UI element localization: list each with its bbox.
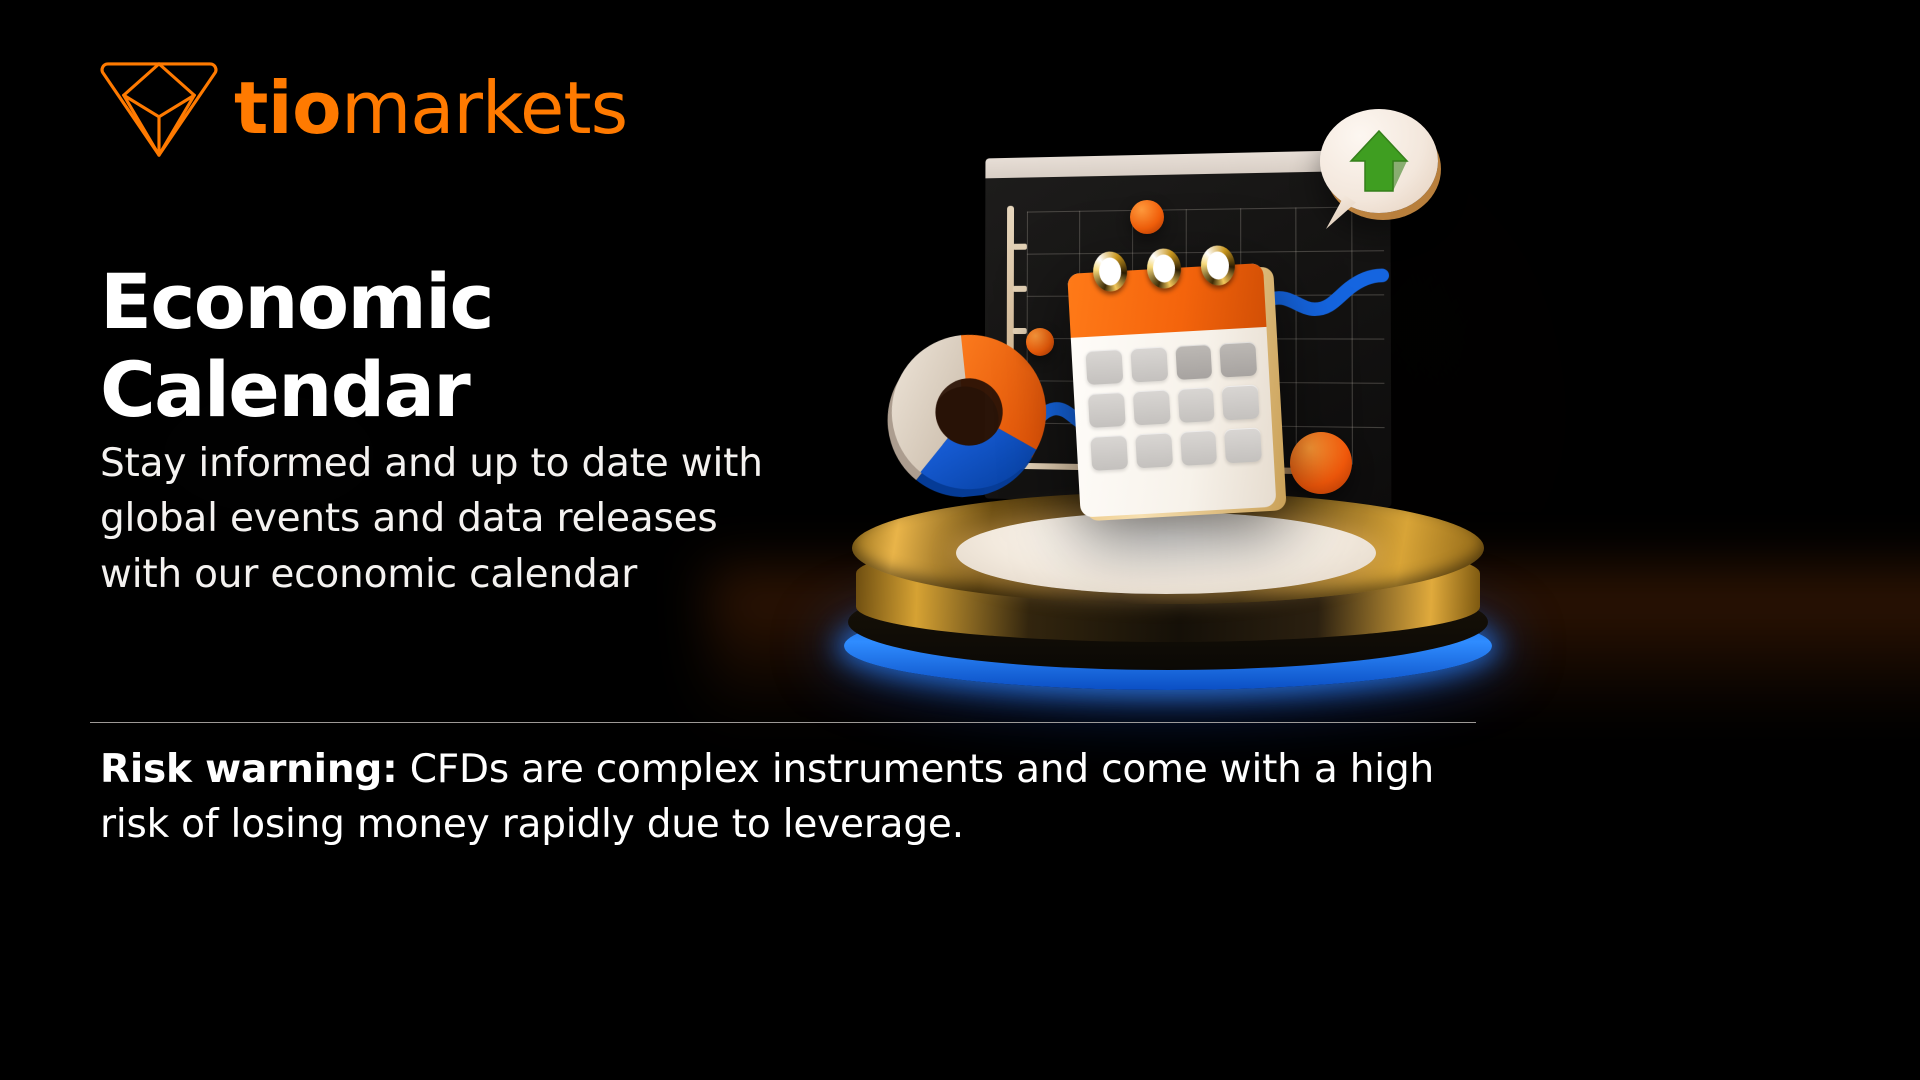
calendar-day-cell bbox=[1135, 432, 1173, 468]
hero-illustration bbox=[830, 100, 1920, 720]
wordmark-bold: tio bbox=[234, 66, 341, 150]
calendar-day-cell bbox=[1222, 384, 1260, 420]
page-title: Economic Calendar bbox=[100, 258, 720, 434]
calendar-day-cell bbox=[1175, 344, 1213, 380]
speech-bubble bbox=[1320, 109, 1438, 213]
calendar-day-cell bbox=[1220, 342, 1258, 378]
calendar-front-page bbox=[1067, 263, 1276, 518]
calendar-day-cell bbox=[1177, 387, 1215, 423]
podium-top-disc bbox=[956, 512, 1376, 594]
headline-line-2: Calendar bbox=[100, 345, 469, 434]
calendar-day-cell bbox=[1130, 347, 1168, 383]
sphere-small-upper bbox=[1130, 200, 1164, 234]
calendar-day-cell bbox=[1086, 349, 1124, 385]
risk-warning-label: Risk warning: bbox=[100, 747, 398, 792]
risk-warning: Risk warning: CFDs are complex instrumen… bbox=[100, 742, 1500, 853]
arrow-up-icon bbox=[1346, 127, 1412, 197]
brand-logo[interactable]: tiomarkets bbox=[100, 58, 627, 158]
headline-line-1: Economic bbox=[100, 257, 493, 346]
subcopy-line-2: global events and data releases bbox=[100, 496, 717, 541]
sphere-small-lower bbox=[1026, 328, 1054, 356]
section-divider bbox=[90, 722, 1476, 723]
subcopy-line-1: Stay informed and up to date with bbox=[100, 441, 763, 486]
calendar-day-cell bbox=[1180, 430, 1218, 466]
calendar-day-cell bbox=[1133, 389, 1171, 425]
calendar-day-cell bbox=[1224, 427, 1262, 463]
tiomarkets-triangle-icon bbox=[100, 58, 218, 158]
calendar-day-cell bbox=[1088, 392, 1126, 428]
brand-wordmark: tiomarkets bbox=[234, 76, 627, 141]
poster-canvas: tiomarkets Economic Calendar Stay inform… bbox=[0, 0, 1920, 1080]
hero-subcopy: Stay informed and up to date with global… bbox=[100, 436, 780, 602]
calendar-day-cell bbox=[1090, 435, 1128, 471]
subcopy-line-3: with our economic calendar bbox=[100, 552, 637, 597]
wordmark-light: markets bbox=[341, 66, 627, 150]
calendar-3d-icon bbox=[1067, 262, 1287, 523]
calendar-day-grid bbox=[1086, 342, 1262, 471]
